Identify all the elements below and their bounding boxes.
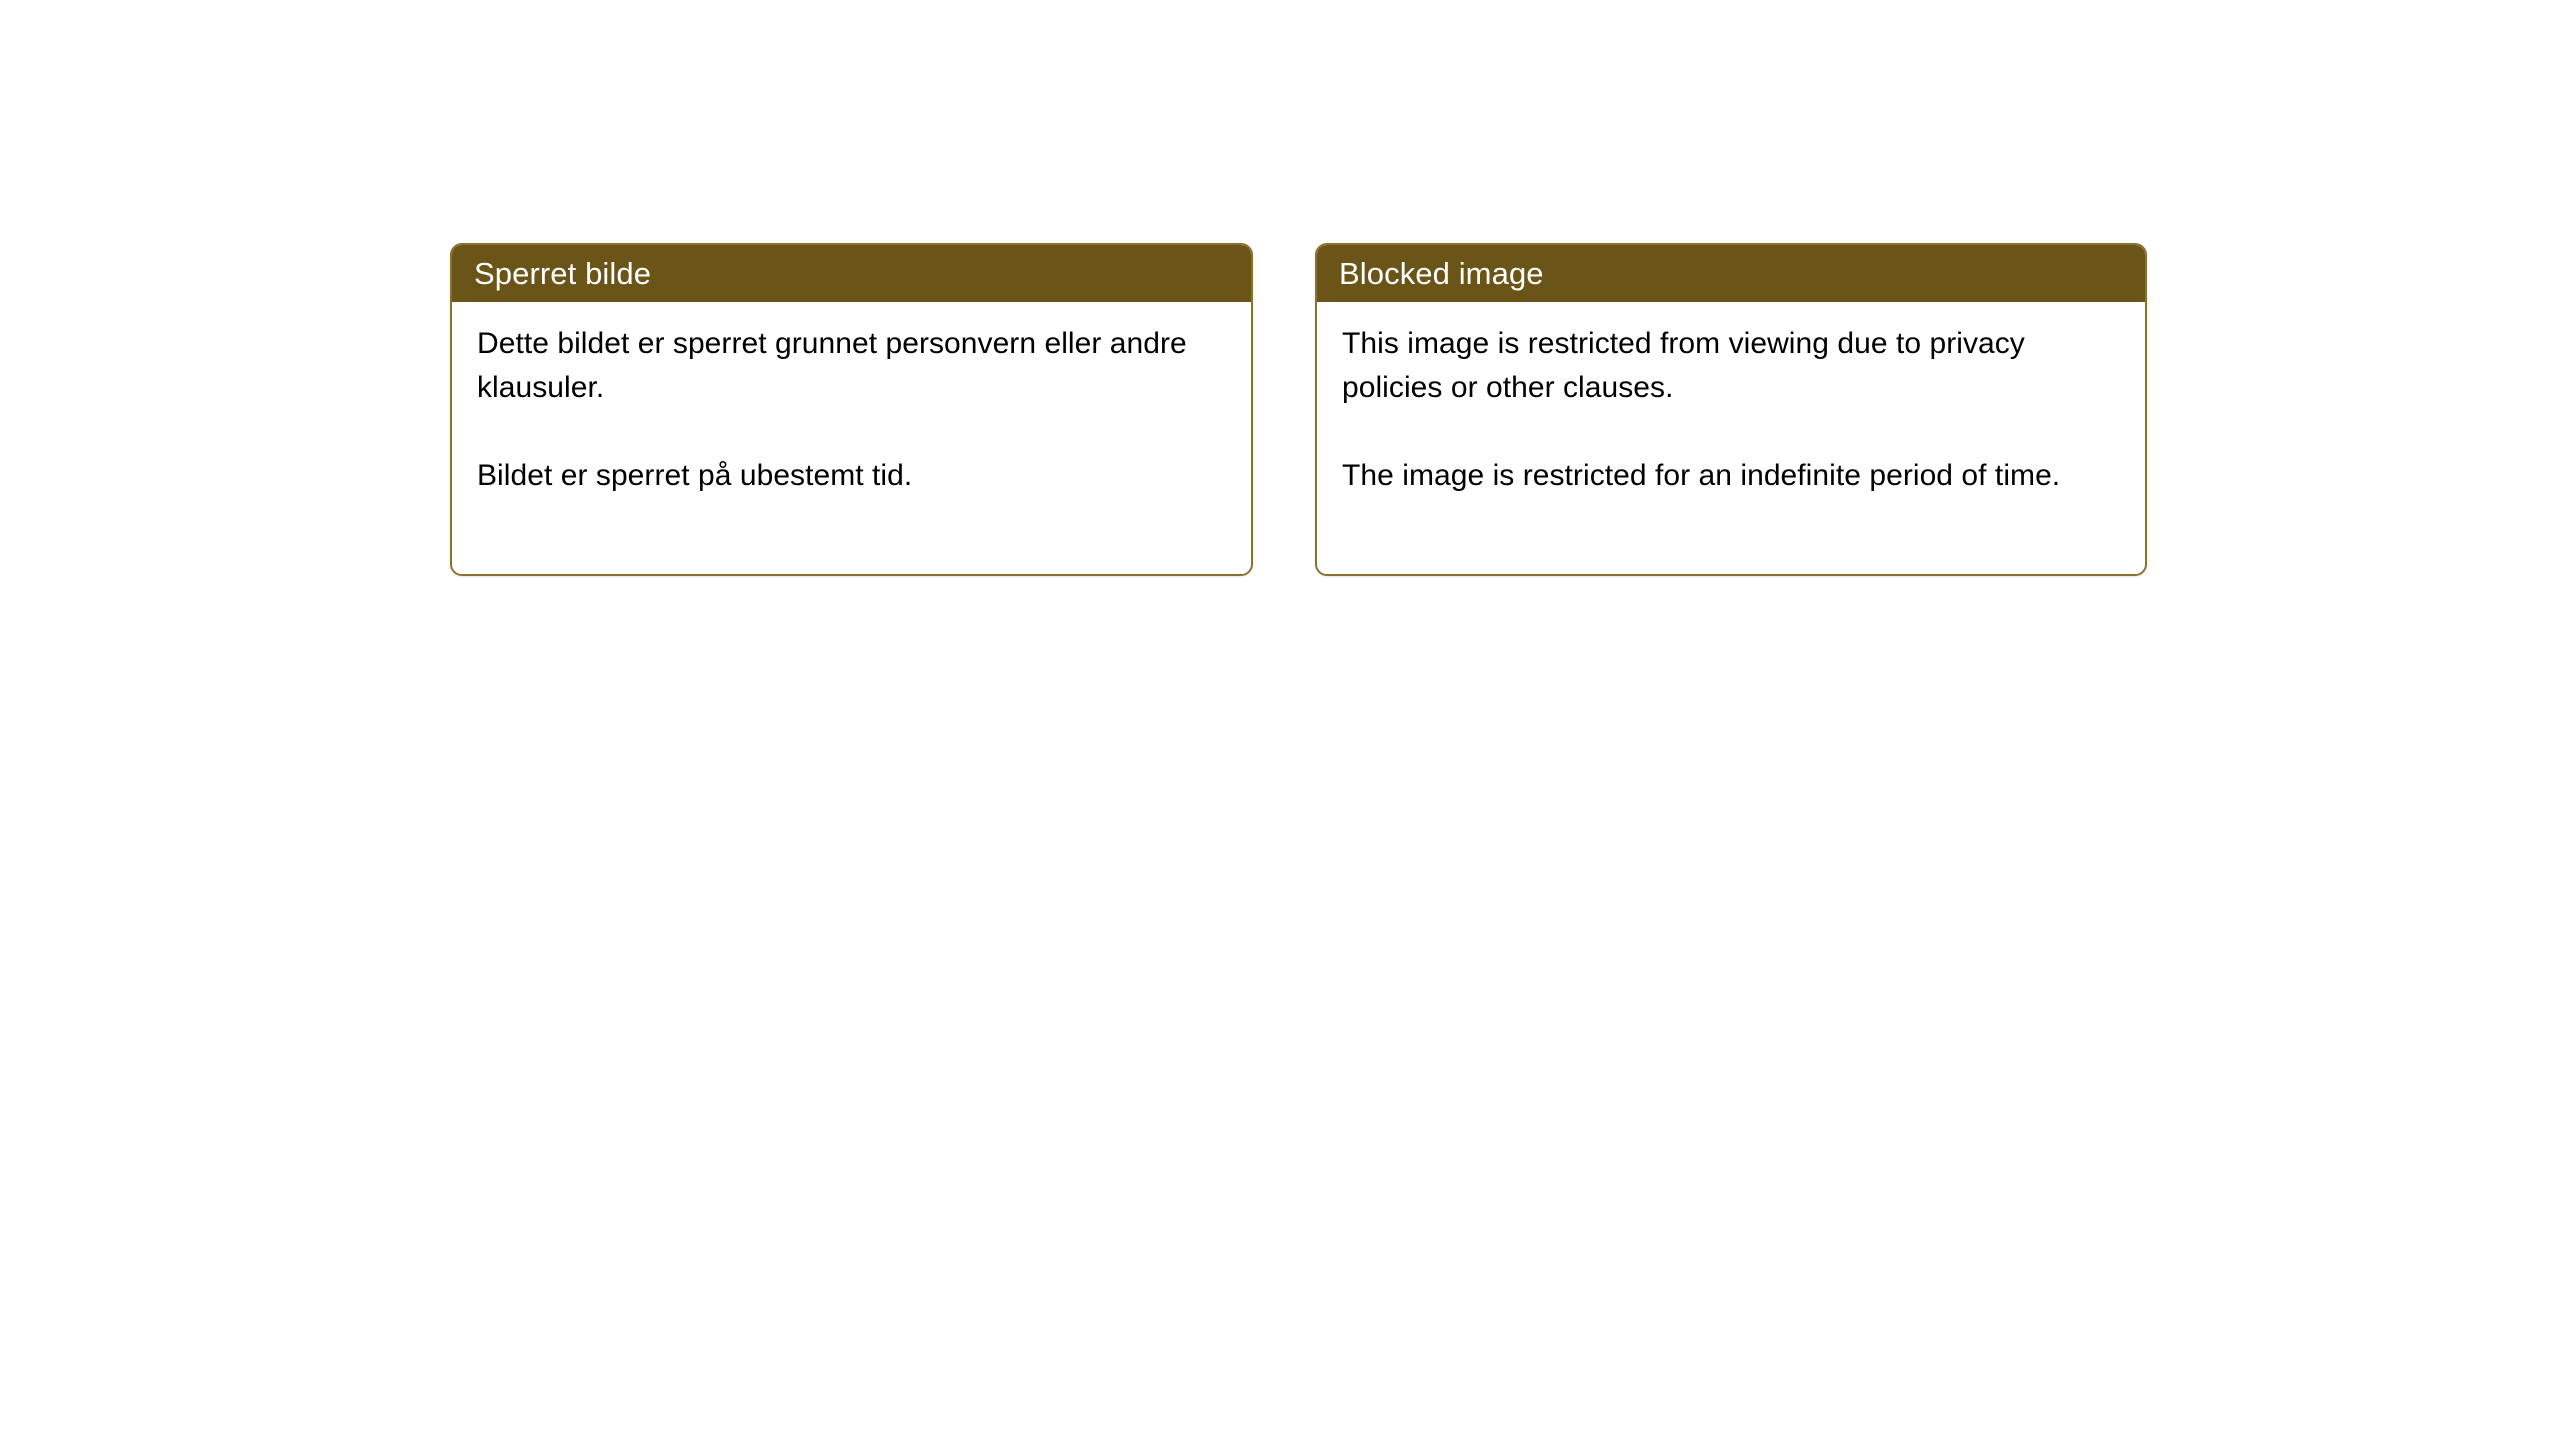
blocked-image-card-english: Blocked image This image is restricted f… — [1315, 243, 2147, 576]
card-title-norwegian: Sperret bilde — [474, 258, 651, 289]
card-title-english: Blocked image — [1339, 258, 1544, 289]
page-root: Sperret bilde Dette bildet er sperret gr… — [0, 0, 2560, 1440]
card-header-english: Blocked image — [1317, 245, 2145, 302]
card-body-english: This image is restricted from viewing du… — [1317, 302, 2145, 574]
card-header-norwegian: Sperret bilde — [452, 245, 1251, 302]
blocked-image-card-norwegian: Sperret bilde Dette bildet er sperret gr… — [450, 243, 1253, 576]
card-body-norwegian: Dette bildet er sperret grunnet personve… — [452, 302, 1251, 574]
card-paragraph-privacy-notice-english: This image is restricted from viewing du… — [1342, 322, 2112, 410]
card-paragraph-duration-norwegian: Bildet er sperret på ubestemt tid. — [477, 454, 1217, 498]
card-paragraph-duration-english: The image is restricted for an indefinit… — [1342, 454, 2112, 498]
card-paragraph-privacy-notice-norwegian: Dette bildet er sperret grunnet personve… — [477, 322, 1217, 410]
